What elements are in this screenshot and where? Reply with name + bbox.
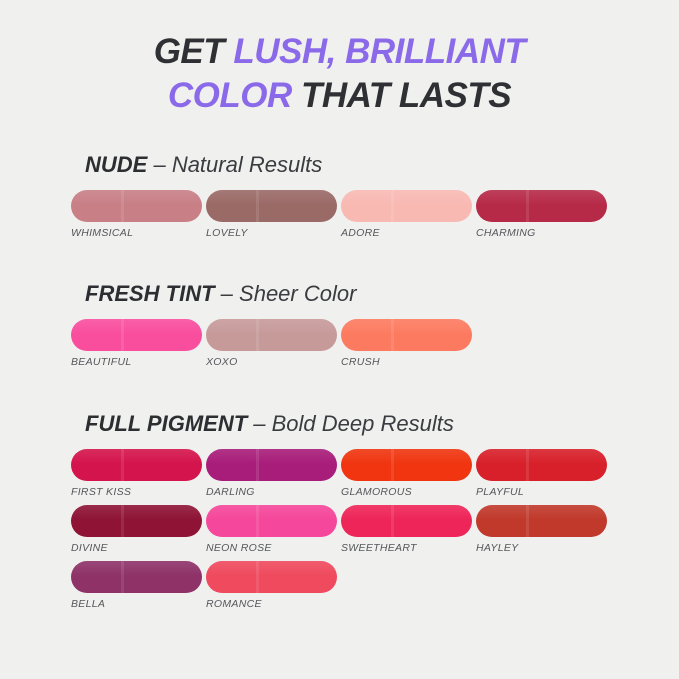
swatch-rows-fresh-tint: BEAUTIFUL XOXO CRUSH [0, 319, 679, 369]
swatch-label-lovely: LOVELY [206, 227, 337, 240]
swatch-color-beautiful[interactable] [71, 319, 202, 351]
swatch-label-romance: ROMANCE [206, 598, 337, 611]
swatch-label-crush: CRUSH [341, 356, 472, 369]
section-nude: NUDE – Natural Results WHIMSICAL LOVELY … [0, 152, 679, 246]
swatch-label-hayley: HAYLEY [476, 542, 607, 555]
section-fresh-tint: FRESH TINT – Sheer Color BEAUTIFUL XOXO … [0, 281, 679, 375]
page-title-lush-brilliant: LUSH, BRILLIANT [233, 32, 525, 71]
swatch-rows-full-pigment: FIRST KISS DARLING GLAMOROUS PLAYFUL [0, 449, 679, 611]
section-name: NUDE [85, 152, 147, 177]
section-separator: – [147, 152, 171, 177]
swatch-cell-divine[interactable]: DIVINE [71, 505, 202, 555]
swatch-cell-glamorous[interactable]: GLAMOROUS [341, 449, 472, 499]
swatch-label-beautiful: BEAUTIFUL [71, 356, 202, 369]
swatch-row: BEAUTIFUL XOXO CRUSH [71, 319, 679, 369]
section-subtitle: Sheer Color [239, 281, 356, 306]
swatch-cell-whimsical[interactable]: WHIMSICAL [71, 190, 202, 240]
swatch-label-charming: CHARMING [476, 227, 607, 240]
section-heading-fresh-tint: FRESH TINT – Sheer Color [85, 281, 679, 307]
swatch-color-charming[interactable] [476, 190, 607, 222]
swatch-label-bella: BELLA [71, 598, 202, 611]
swatch-cell-charming[interactable]: CHARMING [476, 190, 607, 240]
swatch-label-glamorous: GLAMOROUS [341, 486, 472, 499]
page-title-get: GET [154, 32, 234, 71]
swatch-cell-romance[interactable]: ROMANCE [206, 561, 337, 611]
swatch-color-whimsical[interactable] [71, 190, 202, 222]
section-heading-nude: NUDE – Natural Results [85, 152, 679, 178]
swatch-label-playful: PLAYFUL [476, 486, 607, 499]
page-title-that-lasts: THAT LASTS [301, 76, 511, 115]
swatch-label-sweetheart: SWEETHEART [341, 542, 472, 555]
page-title: GET LUSH, BRILLIANT COLOR THAT LASTS [0, 0, 679, 118]
swatch-color-first-kiss[interactable] [71, 449, 202, 481]
swatch-color-romance[interactable] [206, 561, 337, 593]
swatch-row: DIVINE NEON ROSE SWEETHEART HAYLEY [71, 505, 679, 555]
swatch-cell-darling[interactable]: DARLING [206, 449, 337, 499]
section-subtitle: Natural Results [172, 152, 322, 177]
swatch-color-adore[interactable] [341, 190, 472, 222]
swatch-row: FIRST KISS DARLING GLAMOROUS PLAYFUL [71, 449, 679, 499]
swatch-label-divine: DIVINE [71, 542, 202, 555]
swatch-color-bella[interactable] [71, 561, 202, 593]
swatch-row: WHIMSICAL LOVELY ADORE CHARMING [71, 190, 679, 240]
swatch-cell-first-kiss[interactable]: FIRST KISS [71, 449, 202, 499]
section-full-pigment: FULL PIGMENT – Bold Deep Results FIRST K… [0, 411, 679, 617]
section-separator: – [247, 411, 271, 436]
swatch-color-neon-rose[interactable] [206, 505, 337, 537]
section-name: FRESH TINT [85, 281, 215, 306]
swatch-label-neon-rose: NEON ROSE [206, 542, 337, 555]
swatch-row: BELLA ROMANCE [71, 561, 679, 611]
swatch-cell-bella[interactable]: BELLA [71, 561, 202, 611]
swatch-cell-crush[interactable]: CRUSH [341, 319, 472, 369]
section-separator: – [215, 281, 239, 306]
swatch-cell-playful[interactable]: PLAYFUL [476, 449, 607, 499]
swatch-color-playful[interactable] [476, 449, 607, 481]
swatch-color-xoxo[interactable] [206, 319, 337, 351]
page-title-color: COLOR [168, 76, 301, 115]
swatch-color-darling[interactable] [206, 449, 337, 481]
swatch-rows-nude: WHIMSICAL LOVELY ADORE CHARMING [0, 190, 679, 240]
swatch-color-hayley[interactable] [476, 505, 607, 537]
section-name: FULL PIGMENT [85, 411, 247, 436]
swatch-cell-adore[interactable]: ADORE [341, 190, 472, 240]
swatch-color-divine[interactable] [71, 505, 202, 537]
swatch-color-lovely[interactable] [206, 190, 337, 222]
swatch-label-xoxo: XOXO [206, 356, 337, 369]
swatch-color-sweetheart[interactable] [341, 505, 472, 537]
section-subtitle: Bold Deep Results [272, 411, 454, 436]
swatch-cell-beautiful[interactable]: BEAUTIFUL [71, 319, 202, 369]
swatch-cell-sweetheart[interactable]: SWEETHEART [341, 505, 472, 555]
swatch-cell-hayley[interactable]: HAYLEY [476, 505, 607, 555]
swatch-cell-lovely[interactable]: LOVELY [206, 190, 337, 240]
swatch-label-first-kiss: FIRST KISS [71, 486, 202, 499]
section-heading-full-pigment: FULL PIGMENT – Bold Deep Results [85, 411, 679, 437]
swatch-color-crush[interactable] [341, 319, 472, 351]
page-title-line-2: COLOR THAT LASTS [0, 74, 679, 118]
swatch-label-whimsical: WHIMSICAL [71, 227, 202, 240]
page-title-line-1: GET LUSH, BRILLIANT [0, 30, 679, 74]
swatch-label-adore: ADORE [341, 227, 472, 240]
swatch-color-glamorous[interactable] [341, 449, 472, 481]
shade-chart-page: GET LUSH, BRILLIANT COLOR THAT LASTS NUD… [0, 0, 679, 679]
swatch-cell-xoxo[interactable]: XOXO [206, 319, 337, 369]
swatch-label-darling: DARLING [206, 486, 337, 499]
swatch-cell-neon-rose[interactable]: NEON ROSE [206, 505, 337, 555]
